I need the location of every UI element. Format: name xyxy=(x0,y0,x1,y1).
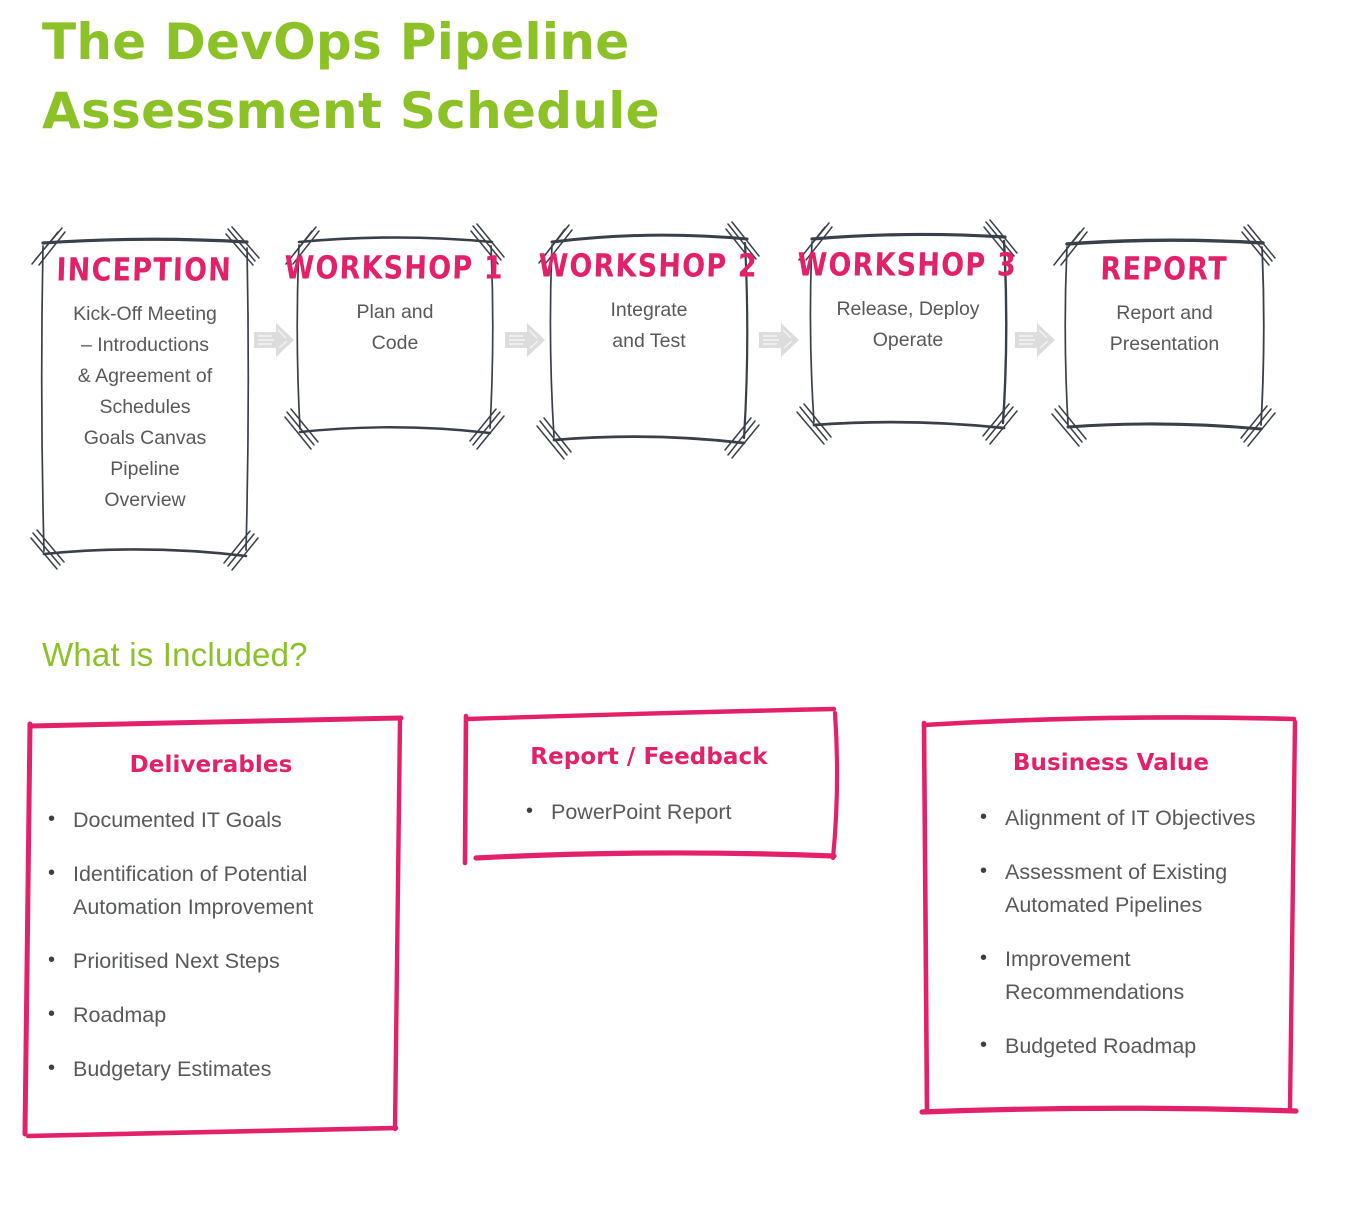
list-item: Improvement Recommendations xyxy=(972,943,1278,1009)
pipeline-stage-workshop-1[interactable]: WORKSHOP 1 Plan and Code xyxy=(295,236,495,436)
pipeline-diagram: INCEPTION Kick-Off Meeting – Introductio… xyxy=(0,200,1352,580)
stage-heading: INCEPTION xyxy=(56,252,233,289)
card-report-feedback[interactable]: Report / Feedback PowerPoint Report xyxy=(462,706,840,864)
list-item: Documented IT Goals xyxy=(40,804,382,837)
card-business-value[interactable]: Business Value Alignment of IT Objective… xyxy=(918,712,1300,1120)
arrow-right-icon xyxy=(252,318,296,367)
list-item: Budgetary Estimates xyxy=(40,1053,382,1086)
stage-heading: REPORT xyxy=(1100,251,1228,288)
section-heading-what-is-included: What is Included? xyxy=(42,636,308,674)
arrow-right-icon xyxy=(503,318,547,367)
list-item: Identification of Potential Automation I… xyxy=(40,858,382,924)
card-bullet-list: PowerPoint Report xyxy=(480,796,818,829)
list-item: Prioritised Next Steps xyxy=(40,945,382,978)
stage-heading: WORKSHOP 1 xyxy=(284,250,505,287)
arrow-right-icon xyxy=(1013,318,1057,367)
card-deliverables[interactable]: Deliverables Documented IT Goals Identif… xyxy=(22,714,404,1139)
card-title: Report / Feedback xyxy=(480,744,818,770)
stage-body: Plan and Code xyxy=(349,297,442,359)
stage-heading: WORKSHOP 3 xyxy=(797,247,1018,284)
stage-body: Report and Presentation xyxy=(1102,298,1228,360)
stage-body: Kick-Off Meeting – Introductions & Agree… xyxy=(65,299,225,516)
stage-body: Release, Deploy Operate xyxy=(828,294,987,356)
pipeline-stage-workshop-2[interactable]: WORKSHOP 2 Integrate and Test xyxy=(548,234,750,446)
card-bullet-list: Alignment of IT Objectives Assessment of… xyxy=(944,802,1278,1063)
card-bullet-list: Documented IT Goals Identification of Po… xyxy=(40,804,382,1086)
card-title: Deliverables xyxy=(40,752,382,778)
pipeline-stage-workshop-3[interactable]: WORKSHOP 3 Release, Deploy Operate xyxy=(808,233,1008,431)
slide-canvas: The DevOps Pipeline Assessment Schedule … xyxy=(0,0,1352,1217)
list-item: Budgeted Roadmap xyxy=(972,1030,1278,1063)
pipeline-stage-report[interactable]: REPORT Report and Presentation xyxy=(1063,237,1266,433)
card-title: Business Value xyxy=(944,750,1278,776)
page-title: The DevOps Pipeline Assessment Schedule xyxy=(42,8,942,146)
list-item: Assessment of Existing Automated Pipelin… xyxy=(972,856,1278,922)
stage-heading: WORKSHOP 2 xyxy=(538,248,759,285)
list-item: Alignment of IT Objectives xyxy=(972,802,1278,835)
stage-body: Integrate and Test xyxy=(603,295,696,357)
pipeline-stage-inception[interactable]: INCEPTION Kick-Off Meeting – Introductio… xyxy=(40,238,250,558)
arrow-right-icon xyxy=(757,318,801,367)
list-item: PowerPoint Report xyxy=(518,796,818,829)
list-item: Roadmap xyxy=(40,999,382,1032)
